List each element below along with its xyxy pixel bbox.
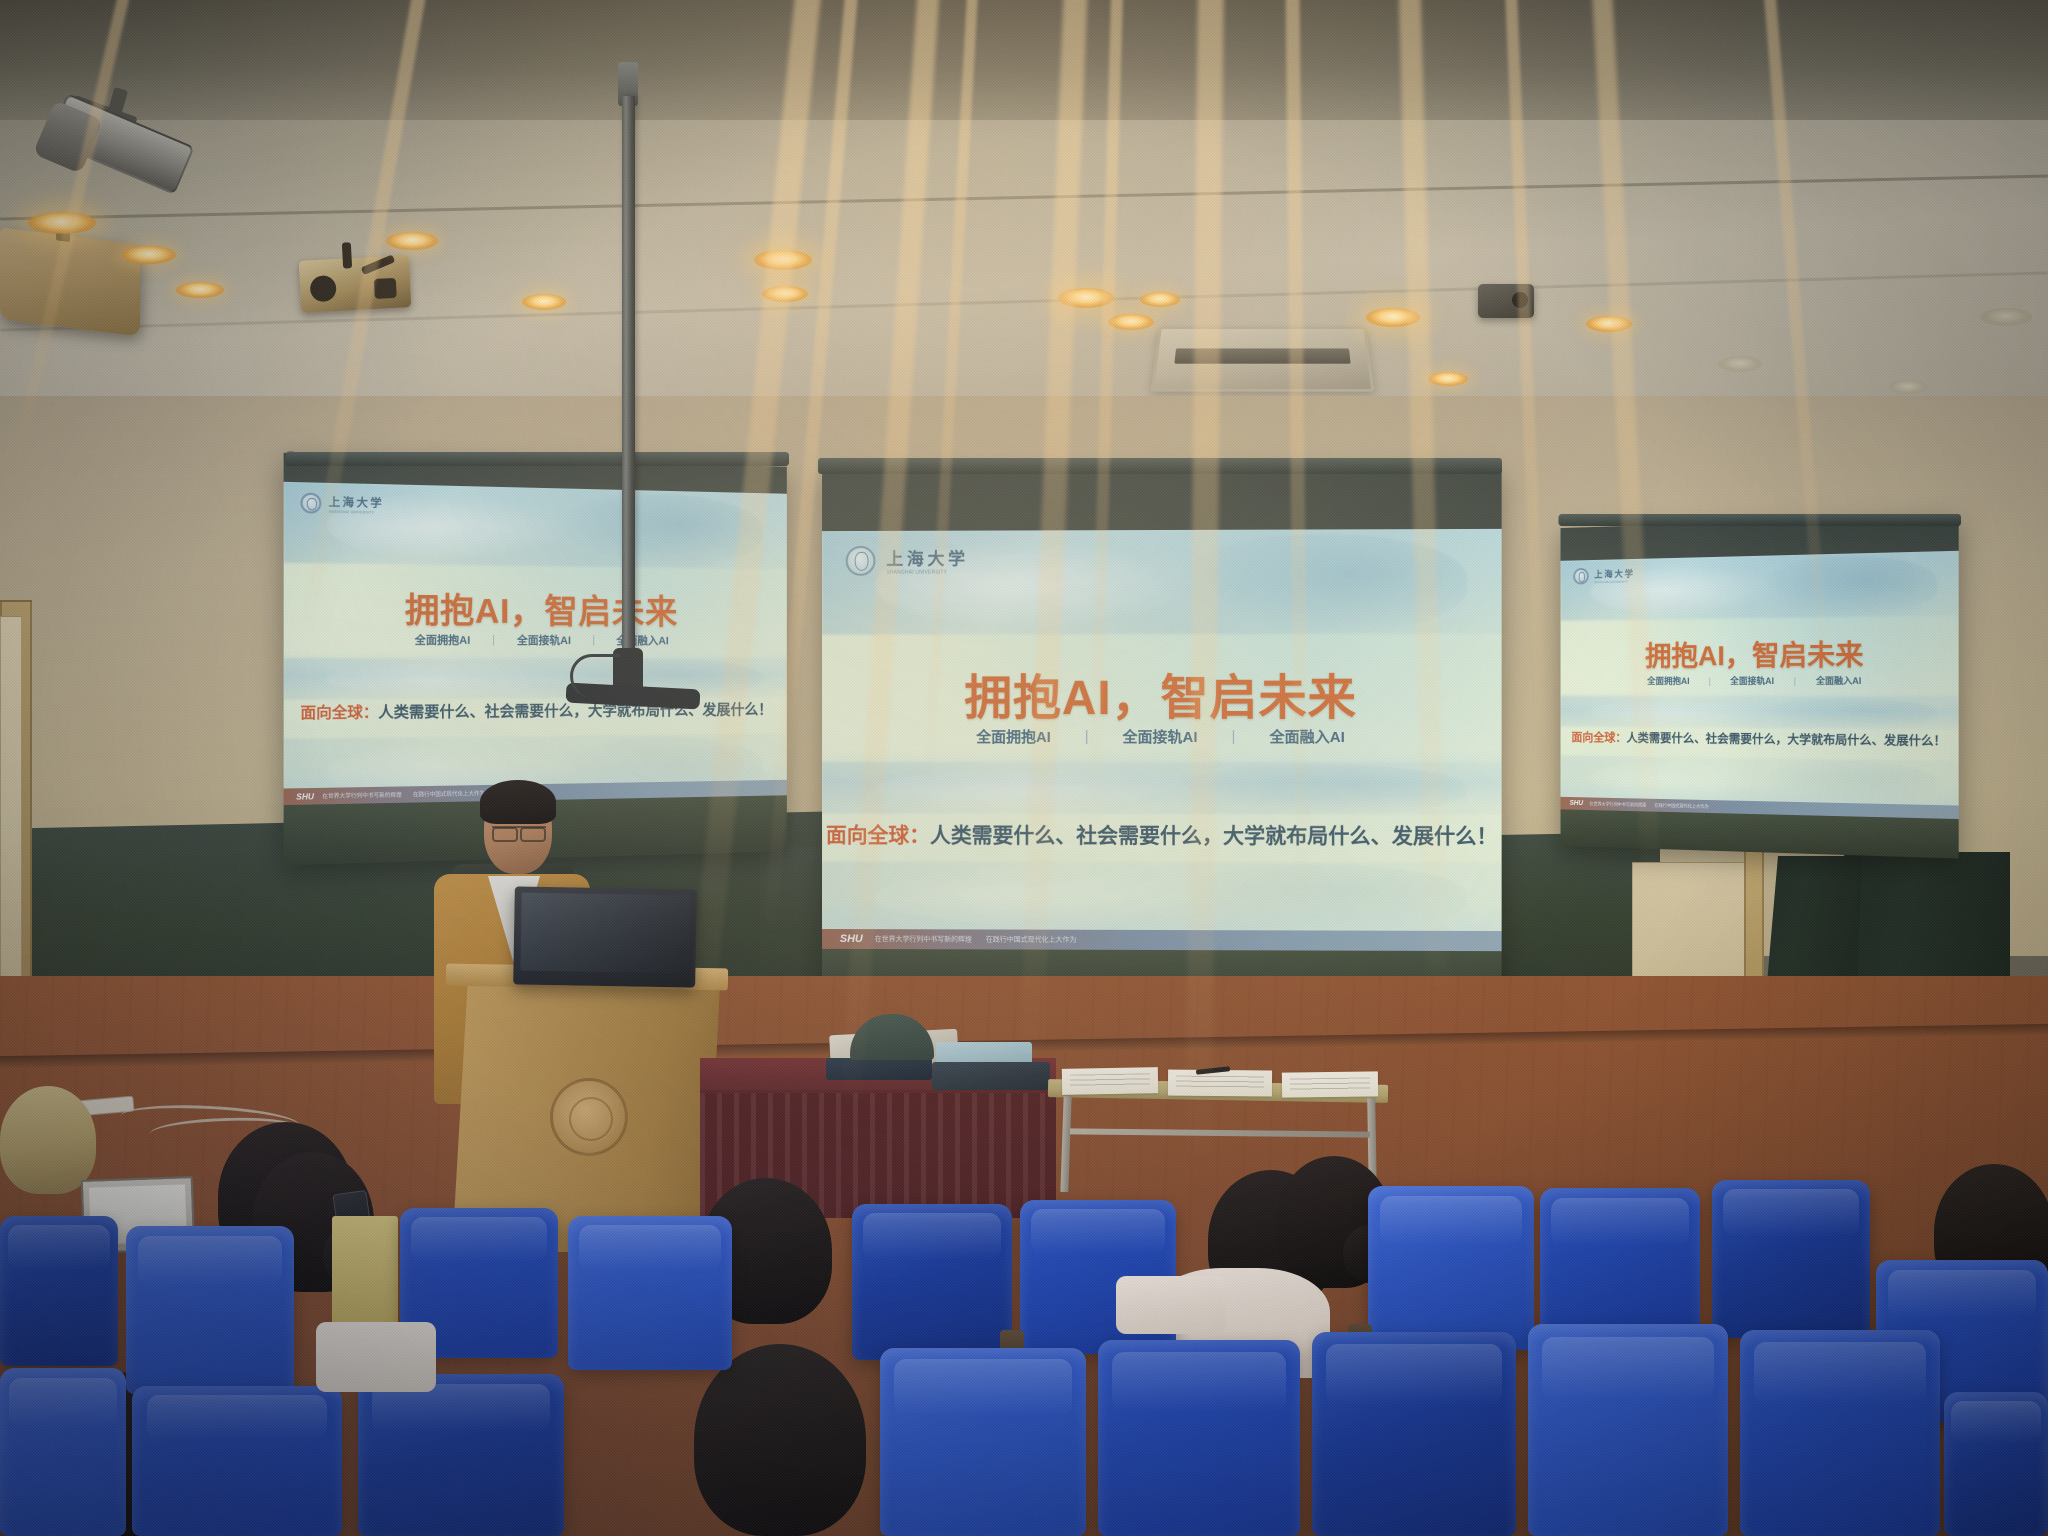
seat[interactable] [1944, 1392, 2048, 1536]
university-seal-icon [846, 545, 876, 575]
slide-statement: 面向全球：人类需要什么、社会需要什么，大学就布局什么、发展什么！ [1561, 728, 1959, 749]
statement-body: 人类需要什么、社会需要什么，大学就布局什么、发展什么！ [378, 702, 772, 722]
left-screen-roller[interactable] [286, 452, 789, 467]
footer-text: 在世界大学行列中书写新的辉煌 在践行中国式现代化上大作为 [322, 789, 485, 800]
monitor-screen [521, 892, 690, 973]
seat[interactable] [126, 1226, 294, 1394]
subtitle-separator: | [1232, 728, 1236, 745]
downlight [1140, 292, 1180, 307]
lecture-hall-photo: 上海大学 SHANGHAI UNIVERSITY 拥抱AI，智启未来 全面拥抱A… [0, 0, 2048, 1536]
downlight [1058, 288, 1114, 308]
seat[interactable] [1528, 1324, 1728, 1536]
downlight [1980, 308, 2032, 326]
slide-divider-image [1561, 696, 1959, 730]
subtitle-1: 全面拥抱AI [976, 726, 1051, 747]
subtitle-2: 全面接轨AI [1730, 674, 1774, 687]
slide-footer-image [822, 861, 1502, 931]
seat[interactable] [132, 1386, 342, 1536]
slide-statement: 面向全球：人类需要什么、社会需要什么，大学就布局什么、发展什么！ [284, 699, 787, 724]
subtitle-2: 全面接轨AI [1123, 726, 1198, 747]
seat[interactable] [0, 1368, 126, 1536]
statement-body: 人类需要什么、社会需要什么，大学就布局什么、发展什么！ [930, 825, 1498, 849]
glasses-icon [492, 826, 546, 828]
seat[interactable] [1368, 1186, 1534, 1350]
microphone-pole [622, 96, 635, 656]
seat[interactable] [358, 1374, 564, 1536]
slide-subtitles: 全面拥抱AI | 全面接轨AI | 全面融入AI [822, 726, 1502, 747]
ceiling-dark-band [0, 0, 2048, 120]
downlight [122, 246, 176, 264]
slide-footer: SHU 在世界大学行列中书写新的辉煌 在践行中国式现代化上大作为 [822, 929, 1502, 951]
center-screen: 上海大学 SHANGHAI UNIVERSITY 拥抱AI，智启未来 全面拥抱A… [822, 467, 1502, 1010]
university-seal-icon [300, 493, 321, 514]
subtitle-1: 全面拥抱AI [1647, 674, 1689, 687]
slide-title: 拥抱AI，智启未来 [1561, 632, 1959, 675]
subtitle-separator: | [1709, 676, 1711, 686]
footer-text: 在世界大学行列中书写新的辉煌 在践行中国式现代化上大作为 [875, 934, 1077, 945]
seat[interactable] [1098, 1340, 1300, 1536]
center-slide: 上海大学 SHANGHAI UNIVERSITY 拥抱AI，智启未来 全面拥抱A… [822, 529, 1502, 951]
confidence-monitor [513, 886, 697, 987]
logo-subtext: SHANGHAI UNIVERSITY [1594, 579, 1635, 584]
logo-text: 上海大学 [1594, 567, 1635, 581]
downlight [754, 250, 812, 270]
seat[interactable] [880, 1348, 1086, 1536]
ceiling-projector [1478, 284, 1534, 318]
downlight [1366, 308, 1420, 327]
subtitle-separator: | [1085, 728, 1089, 745]
shu-brand: SHU [1570, 800, 1583, 807]
attendee-sleeve [316, 1322, 436, 1392]
screen-top-bar [822, 467, 1502, 532]
slide-subtitles: 全面拥抱AI | 全面接轨AI | 全面融入AI [1561, 673, 1959, 687]
document[interactable] [1168, 1070, 1272, 1097]
right-screen-roller[interactable] [1559, 514, 1961, 526]
downlight [1428, 372, 1468, 386]
footer-text: 在世界大学行列中书写新的辉煌 在践行中国式现代化上大作为 [1589, 801, 1708, 810]
seat[interactable] [1312, 1332, 1516, 1536]
document[interactable] [1062, 1067, 1158, 1095]
downlight [1888, 380, 1928, 394]
subtitle-3: 全面融入AI [1270, 726, 1345, 747]
microphone-cable [570, 654, 620, 698]
shu-brand: SHU [296, 792, 314, 802]
slide-header-image [1561, 551, 1959, 621]
ac-cassette-unit [1151, 327, 1375, 392]
document[interactable] [1282, 1071, 1378, 1097]
downlight [176, 282, 224, 298]
podium-emblem [550, 1078, 628, 1156]
statement-lead: 面向全球： [300, 704, 378, 722]
university-seal-icon [1573, 568, 1588, 585]
statement-body: 人类需要什么、社会需要什么，大学就布局什么、发展什么！ [1626, 731, 1946, 748]
presenter-hair [480, 780, 556, 824]
stage-equipment [826, 1058, 932, 1080]
tote-bag [332, 1216, 398, 1326]
left-slide: 上海大学 SHANGHAI UNIVERSITY 拥抱AI，智启未来 全面拥抱A… [284, 482, 787, 805]
slide-logo: 上海大学 SHANGHAI UNIVERSITY [300, 493, 384, 515]
shu-brand: SHU [840, 933, 863, 945]
door-left[interactable] [0, 616, 22, 988]
center-screen-roller[interactable] [818, 458, 1502, 474]
subtitle-separator: | [492, 634, 495, 646]
seat[interactable] [1712, 1180, 1870, 1338]
slide-title: 拥抱AI，智启未来 [822, 658, 1502, 728]
slide-divider-image [822, 762, 1502, 815]
ceiling-camera [299, 255, 412, 313]
subtitle-2: 全面接轨AI [517, 632, 571, 648]
statement-lead: 面向全球： [826, 825, 930, 848]
slide-statement: 面向全球：人类需要什么、社会需要什么，大学就布局什么、发展什么！ [822, 820, 1502, 851]
slide-logo: 上海大学 SHANGHAI UNIVERSITY [846, 545, 969, 576]
subtitle-separator: | [592, 634, 595, 646]
stage-equipment [932, 1062, 1050, 1090]
downlight [522, 294, 566, 310]
logo-text: 上海大学 [329, 493, 384, 511]
subtitle-separator: | [1794, 675, 1796, 685]
seat[interactable] [852, 1204, 1012, 1360]
right-slide: 上海大学 SHANGHAI UNIVERSITY 拥抱AI，智启未来 全面拥抱A… [1561, 551, 1959, 819]
downlight [1108, 314, 1154, 330]
attendee-sleeve [1116, 1276, 1226, 1334]
seat[interactable] [1740, 1330, 1940, 1536]
seat[interactable] [0, 1216, 118, 1366]
seat[interactable] [568, 1216, 732, 1370]
downlight [28, 212, 96, 234]
downlight [1586, 316, 1632, 332]
downlight [386, 232, 438, 250]
slide-subtitles: 全面拥抱AI | 全面接轨AI | 全面融入AI [284, 631, 787, 648]
subtitle-3: 全面融入AI [1816, 674, 1861, 687]
attendee-head [0, 1086, 96, 1194]
slide-divider-image [284, 658, 787, 699]
attendee-head [694, 1344, 866, 1536]
slide-title: 拥抱AI，智启未来 [284, 581, 787, 634]
slide-logo: 上海大学 SHANGHAI UNIVERSITY [1573, 567, 1635, 585]
downlight [762, 286, 808, 302]
right-screen: 上海大学 SHANGHAI UNIVERSITY 拥抱AI，智启未来 全面拥抱A… [1561, 515, 1959, 858]
statement-lead: 面向全球： [1571, 730, 1626, 744]
logo-subtext: SHANGHAI UNIVERSITY [886, 570, 968, 576]
wall-speaker-left [0, 227, 140, 336]
subtitle-1: 全面拥抱AI [415, 632, 471, 648]
downlight [1718, 356, 1762, 372]
logo-text: 上海大学 [886, 545, 968, 570]
